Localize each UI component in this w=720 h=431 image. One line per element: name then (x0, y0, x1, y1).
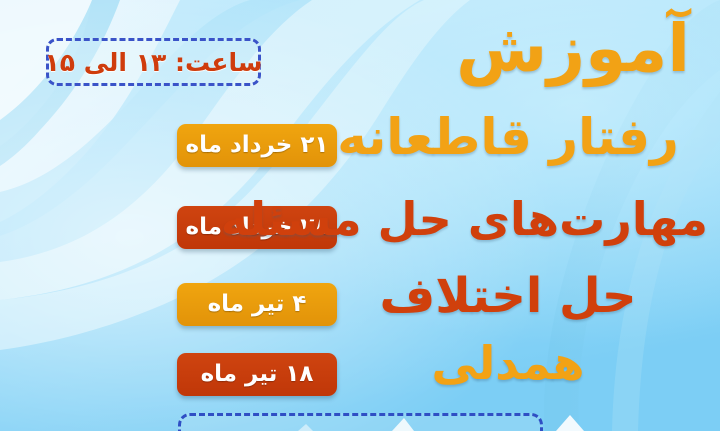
date-badge-3-label: ۴ تیر ماه (208, 293, 307, 316)
heading-topic-problem-solving-skills: مهارت‌های حل مسئله (308, 196, 708, 242)
headings-group: آموزش رفتار قاطعانه مهارت‌های حل مسئله ح… (308, 0, 708, 420)
heading-topic-assertive-behavior: رفتار قاطعانه (308, 112, 708, 162)
time-badge-label: ساعت: ۱۳ الی ۱۵ (45, 50, 263, 75)
bottom-dashed-box (178, 413, 543, 431)
heading-topic-conflict-resolution: حل اختلاف (308, 272, 708, 320)
date-badge-4-label: ۱۸ تیر ماه (201, 363, 314, 386)
time-badge: ساعت: ۱۳ الی ۱۵ (46, 38, 261, 86)
heading-title-amoozesh: آموزش (290, 16, 698, 82)
poster-canvas: ساعت: ۱۳ الی ۱۵ ۲۱ خرداد ماه ۲۸ خرداد ما… (0, 0, 720, 431)
heading-topic-empathy: همدلی (308, 340, 708, 386)
